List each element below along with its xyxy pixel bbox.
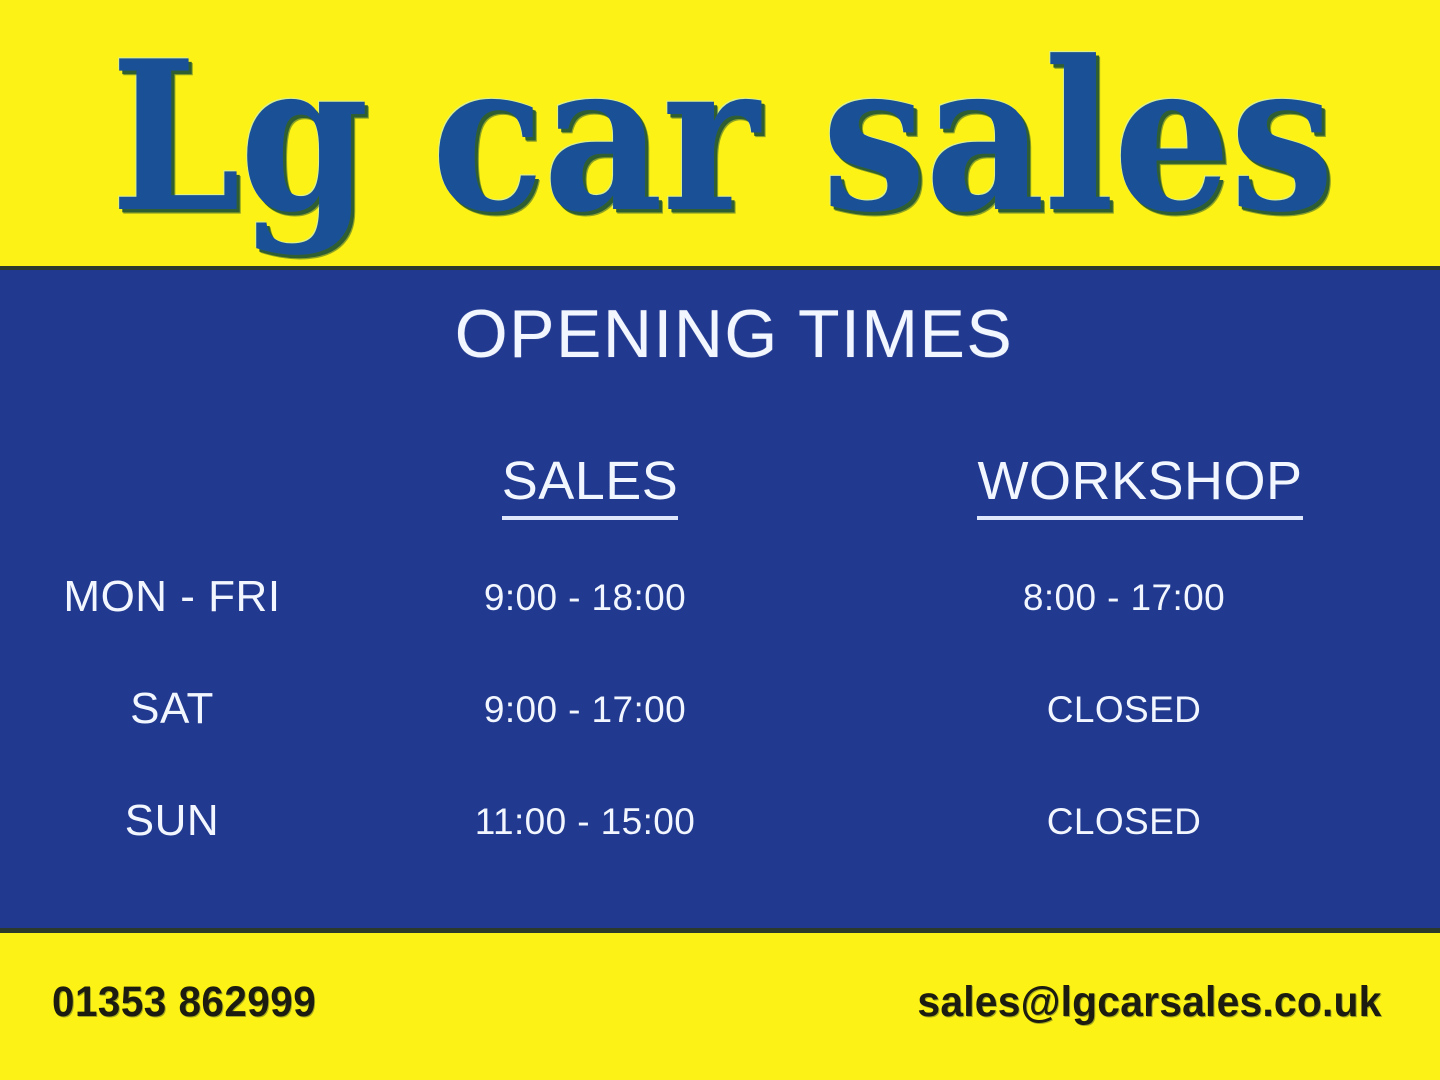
phone-number[interactable]: 01353 862999 <box>52 981 316 1024</box>
column-header-sales: SALES <box>340 454 840 532</box>
table-row-day-label: SUN <box>0 799 340 843</box>
schedule-table: SALES WORKSHOP MON - FRI 9:00 - 18:00 8:… <box>0 445 1440 877</box>
table-row-workshop-hours: CLOSED <box>840 803 1440 840</box>
email-address[interactable]: sales@lgcarsales.co.uk <box>918 981 1382 1024</box>
page-title: OPENING TIMES <box>14 300 1440 368</box>
contact-band: 01353 862999 sales@lgcarsales.co.uk <box>0 933 1440 1080</box>
company-logo-wordmark: Lg car sales <box>111 42 1334 232</box>
table-row-sales-hours: 9:00 - 17:00 <box>340 691 840 728</box>
table-row-workshop-hours: 8:00 - 17:00 <box>840 579 1440 616</box>
table-row-workshop-hours: CLOSED <box>840 691 1440 728</box>
column-header-workshop-label: WORKSHOP <box>977 454 1302 520</box>
logo-band: Lg car sales <box>0 0 1440 266</box>
table-row-sales-hours: 9:00 - 18:00 <box>340 579 840 616</box>
column-header-workshop: WORKSHOP <box>840 454 1440 532</box>
table-row-sales-hours: 11:00 - 15:00 <box>340 803 840 840</box>
opening-times-sign: Lg car sales OPENING TIMES SALES WORKSHO… <box>0 0 1440 1080</box>
column-header-sales-label: SALES <box>502 454 679 520</box>
table-row-day-label: SAT <box>0 687 340 731</box>
table-row-day-label: MON - FRI <box>0 575 340 619</box>
opening-times-panel: OPENING TIMES SALES WORKSHOP MON - FRI 9… <box>0 270 1440 928</box>
